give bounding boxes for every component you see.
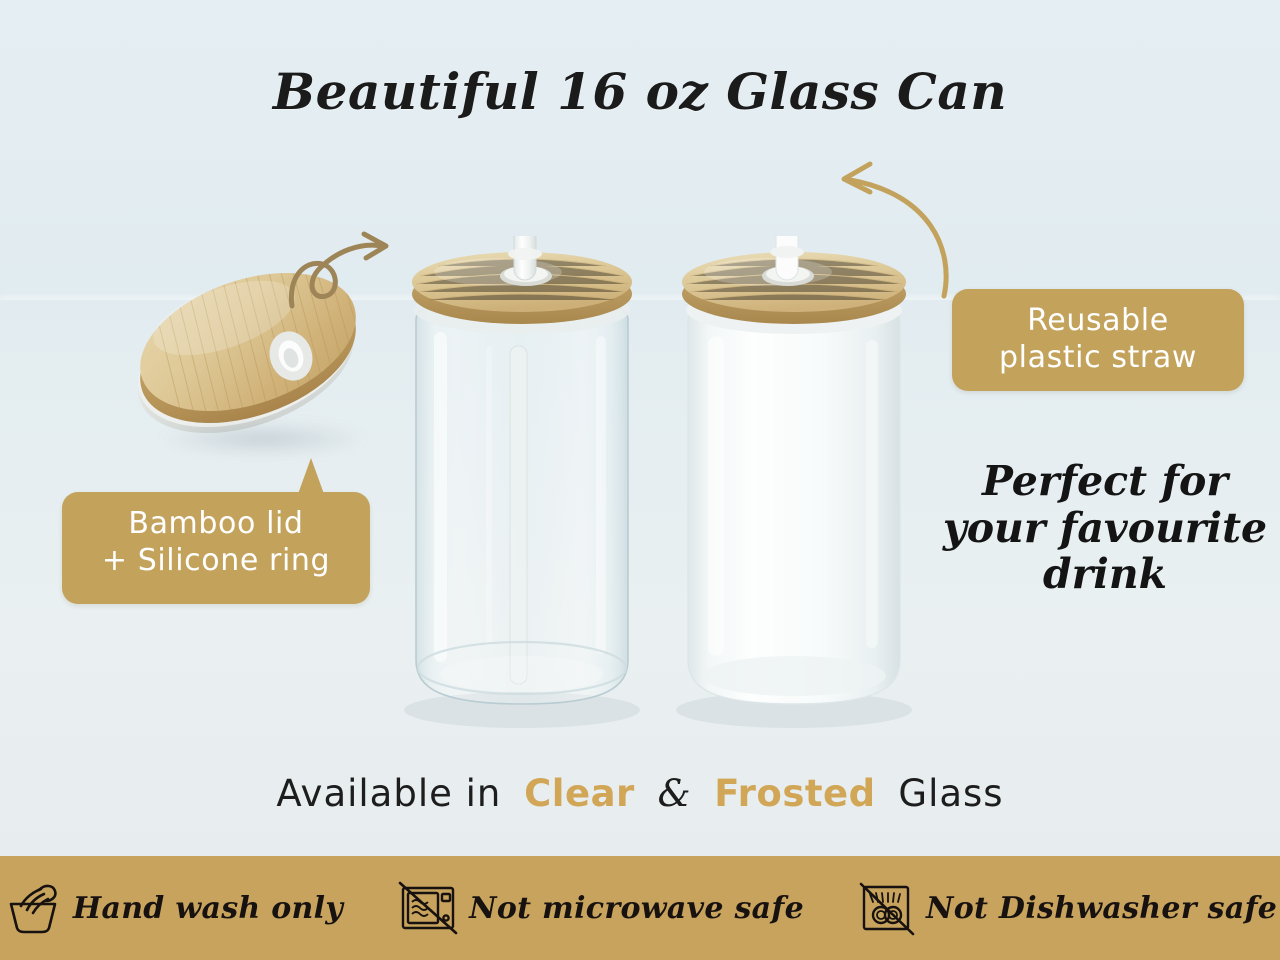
hand-wash-icon — [3, 880, 63, 936]
care-item-hand-wash: Hand wash only — [3, 880, 343, 936]
no-microwave-icon — [397, 880, 459, 936]
clear-glass-can — [398, 236, 646, 736]
callout-lid-line1: Bamboo lid — [80, 506, 352, 543]
available-finishes-line: Available in Clear & Frosted Glass — [0, 772, 1280, 815]
product-infographic: Beautiful 16 oz Glass Can — [0, 0, 1280, 960]
loop-arrow-icon — [286, 220, 414, 310]
care-label-hand-wash: Hand wash only — [73, 891, 343, 926]
available-conjunction: & — [658, 772, 692, 815]
care-label-microwave: Not microwave safe — [469, 891, 804, 926]
slogan-line3: drink — [935, 551, 1275, 598]
finish-clear-label: Clear — [524, 772, 635, 815]
slogan-line1: Perfect for — [935, 458, 1275, 505]
care-instructions-bar: Hand wash only Not microw — [0, 856, 1280, 960]
straw-inside — [510, 346, 527, 684]
available-prefix: Available in — [276, 772, 501, 815]
frosted-glass-can — [668, 236, 920, 736]
page-title: Beautiful 16 oz Glass Can — [0, 62, 1280, 121]
callout-reusable-straw: Reusable plastic straw — [952, 289, 1244, 391]
slogan-text: Perfect for your favourite drink — [935, 458, 1275, 598]
no-dishwasher-icon — [858, 880, 916, 936]
care-item-microwave: Not microwave safe — [397, 880, 804, 936]
callout-straw-line1: Reusable — [970, 303, 1226, 340]
callout-straw-line2: plastic straw — [970, 340, 1226, 377]
care-label-dishwasher: Not Dishwasher safe — [926, 891, 1277, 926]
care-item-dishwasher: Not Dishwasher safe — [858, 880, 1277, 936]
callout-lid-line2: + Silicone ring — [80, 543, 352, 580]
slogan-line2: your favourite — [935, 505, 1275, 552]
curved-arrow-icon — [826, 158, 976, 308]
callout-bamboo-lid: Bamboo lid + Silicone ring — [62, 492, 370, 604]
finish-frosted-label: Frosted — [714, 772, 875, 815]
available-suffix: Glass — [898, 772, 1003, 815]
callout-tail — [298, 458, 324, 494]
